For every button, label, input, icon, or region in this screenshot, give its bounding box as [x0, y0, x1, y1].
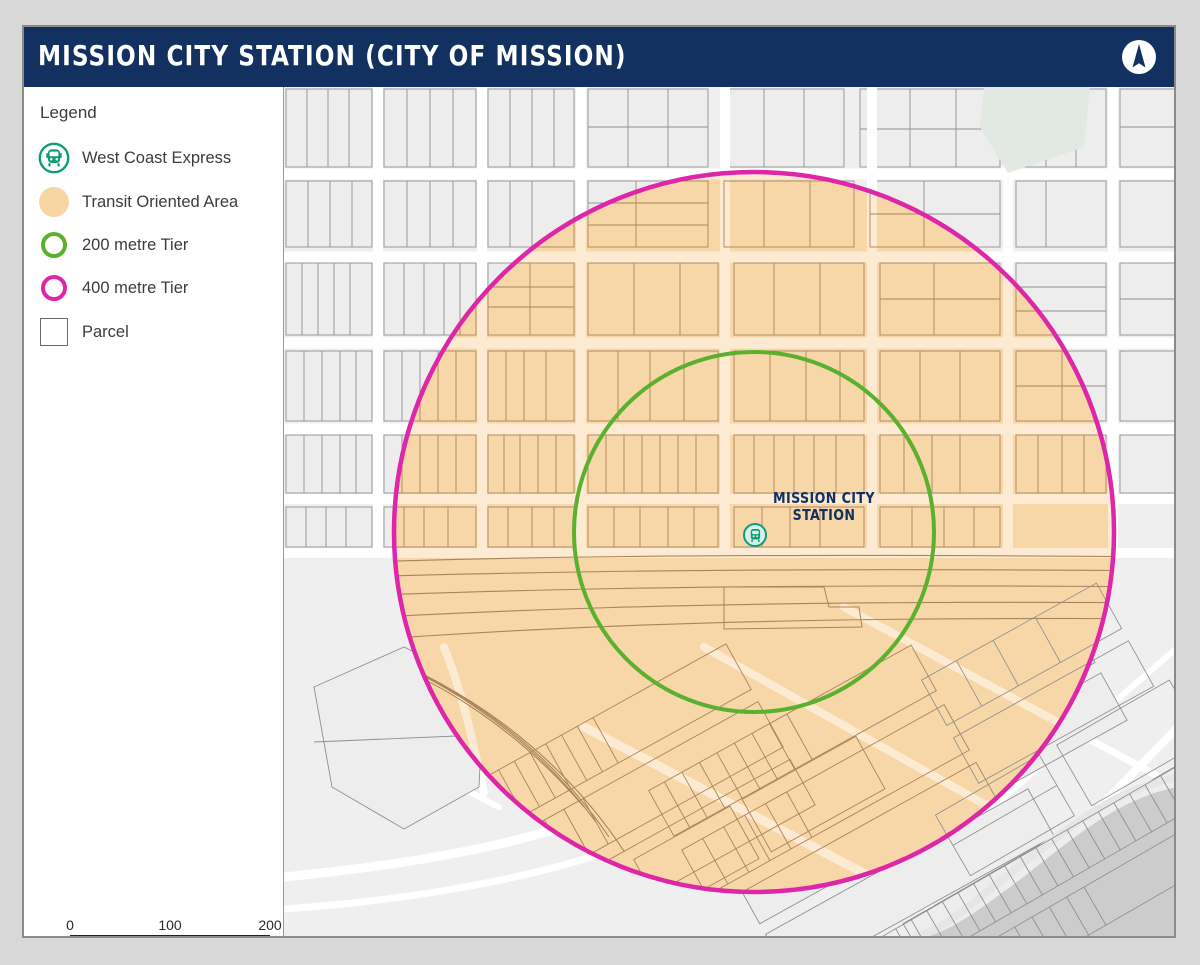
scale-tick: 0 [66, 917, 74, 933]
legend-item-400-metre-tier: 400 metre Tier [36, 269, 276, 307]
legend-heading: Legend [40, 103, 97, 123]
legend-panel: Legend [24, 87, 284, 936]
scale-bar-ticks: 0 100 200 [70, 917, 270, 933]
legend-item-label: West Coast Express [82, 149, 231, 168]
legend-item-transit-oriented-area: Transit Oriented Area [36, 183, 276, 221]
scale-tick: 100 [158, 917, 181, 933]
legend-item-west-coast-express: West Coast Express [36, 139, 276, 177]
map-canvas[interactable]: MISSION CITY STATION [284, 87, 1176, 936]
map-card: MISSION CITY STATION (CITY OF MISSION) L… [22, 25, 1176, 938]
scale-bar-graphic [70, 935, 270, 938]
magenta-ring-icon [36, 270, 72, 306]
train-station-icon [36, 140, 72, 176]
train-station-marker-icon[interactable] [744, 524, 766, 546]
legend-item-label: 400 metre Tier [82, 279, 188, 298]
legend-item-parcel: Parcel [36, 313, 276, 351]
map-layers [284, 87, 1176, 936]
legend-item-label: Parcel [82, 323, 129, 342]
green-ring-icon [36, 227, 72, 263]
legend-item-label: Transit Oriented Area [82, 193, 238, 212]
north-arrow-icon [1120, 38, 1158, 76]
scale-tick: 200 [258, 917, 281, 933]
map-svg [284, 87, 1176, 936]
legend-item-label: 200 metre Tier [82, 236, 188, 255]
page-title: MISSION CITY STATION (CITY OF MISSION) [38, 39, 627, 72]
page-background: MISSION CITY STATION (CITY OF MISSION) L… [0, 0, 1200, 965]
scale-bar: 0 100 200 Metres [70, 917, 270, 938]
filled-circle-icon [36, 184, 72, 220]
square-outline-icon [36, 314, 72, 350]
legend-item-200-metre-tier: 200 metre Tier [36, 226, 276, 264]
map-header: MISSION CITY STATION (CITY OF MISSION) [24, 27, 1174, 87]
